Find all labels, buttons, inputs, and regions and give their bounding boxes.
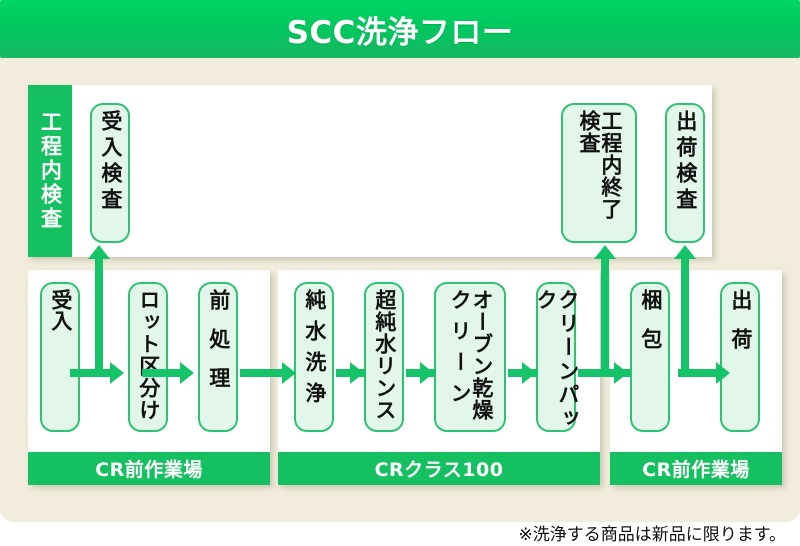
connector-receiving-to-lot-sorting-arrowhead: [110, 362, 124, 384]
connector-lot-sorting-to-pre-treatment: [142, 369, 182, 377]
connector-packing-to-shipping-arrowhead: [716, 362, 730, 384]
connector-pre-treatment-to-pure-water-wash: [240, 369, 288, 377]
step-pure-water-wash[interactable]: 純水洗浄: [294, 282, 334, 432]
diagram-header: SCC洗浄フロー: [0, 0, 800, 58]
inspection-panel: 工程内検査 受入検査 工程内終了 検査: [28, 85, 712, 257]
connector-pure-water-wash-to-rinse-arrowhead: [350, 362, 364, 384]
step-receiving-label: 受入: [49, 289, 71, 429]
step-lot-sorting-label: ロット区分け: [137, 289, 159, 429]
group-footer-label-2: CRクラス100: [375, 455, 504, 482]
page-title: SCC洗浄フロー: [287, 7, 514, 52]
step-clean-oven-dry-label-left: クリーン: [448, 289, 470, 429]
group-footer-label-1: CR前作業場: [95, 455, 203, 482]
process-end-inspection-box[interactable]: 工程内終了 検査: [561, 103, 637, 243]
step-receiving[interactable]: 受入: [40, 282, 80, 432]
incoming-inspection-label: 受入検査: [99, 110, 121, 240]
step-packing[interactable]: 梱包: [630, 282, 670, 432]
step-ultrapure-water-rinse-label: 超純水リンス: [373, 289, 395, 429]
process-end-inspection-label-right: 工程内終了: [599, 110, 621, 240]
connector-clean-pack-to-packing-arrowhead: [614, 362, 628, 384]
connector-rinse-to-clean-oven-dry-arrowhead: [420, 362, 434, 384]
group-footer-pre-cr-1: CR前作業場: [28, 452, 270, 485]
group-footer-pre-cr-2: CR前作業場: [610, 452, 782, 485]
connector-process-end-inspection-arrowhead: [594, 245, 616, 259]
group-pre-cr-area-2: 梱包 出荷 CR前作業場: [610, 270, 782, 485]
connector-process-end-inspection-stem: [601, 258, 609, 373]
step-shipping[interactable]: 出荷: [720, 282, 760, 432]
step-pre-treatment-label: 前処理: [207, 289, 229, 429]
group-cr-class-100: 純水洗浄 超純水リンス オーブン乾燥 クリーン クリーンパック CRクラス100: [278, 270, 600, 485]
step-pure-water-wash-label: 純水洗浄: [303, 289, 325, 429]
connector-incoming-inspection-stem: [95, 258, 103, 373]
step-packing-label: 梱包: [639, 289, 661, 429]
connector-shipping-inspection-arrowhead: [674, 245, 696, 259]
flow-diagram-root: SCC洗浄フロー 工程内検査 受入検査 工程内終了 検査 出荷検査 受入 ロット…: [0, 0, 800, 546]
step-pre-treatment[interactable]: 前処理: [198, 282, 238, 432]
connector-lot-sorting-to-pre-treatment-arrowhead: [180, 362, 194, 384]
connector-incoming-inspection-arrowhead: [88, 245, 110, 259]
connector-receiving-to-lot-sorting: [70, 369, 112, 377]
process-end-inspection-label-left: 検査: [577, 110, 599, 240]
step-lot-sorting[interactable]: ロット区分け: [128, 282, 168, 432]
shipping-inspection-label: 出荷検査: [674, 110, 696, 240]
shipping-inspection-box[interactable]: 出荷検査: [665, 103, 705, 243]
inspection-sidebar: 工程内検査: [28, 85, 72, 257]
step-clean-pack-label: クリーンパック: [534, 289, 578, 429]
connector-pre-treatment-to-pure-water-wash-arrowhead: [282, 362, 296, 384]
inspection-sidebar-label: 工程内検査: [40, 111, 61, 231]
group-footer-label-3: CR前作業場: [642, 455, 750, 482]
step-clean-oven-dry[interactable]: オーブン乾燥 クリーン: [434, 282, 506, 432]
footnote: ※洗浄する商品は新品に限ります。: [518, 520, 786, 545]
step-clean-pack[interactable]: クリーンパック: [536, 282, 576, 432]
step-shipping-label: 出荷: [729, 289, 751, 429]
connector-shipping-inspection-stem: [681, 258, 689, 373]
group-footer-cr-class-100: CRクラス100: [278, 452, 600, 485]
connector-clean-oven-dry-to-clean-pack-arrowhead: [522, 362, 536, 384]
step-ultrapure-water-rinse[interactable]: 超純水リンス: [364, 282, 404, 432]
incoming-inspection-box[interactable]: 受入検査: [90, 103, 130, 243]
group-pre-cr-area-1: 受入 ロット区分け 前処理 CR前作業場: [28, 270, 270, 485]
step-clean-oven-dry-label-right: オーブン乾燥: [470, 289, 492, 429]
